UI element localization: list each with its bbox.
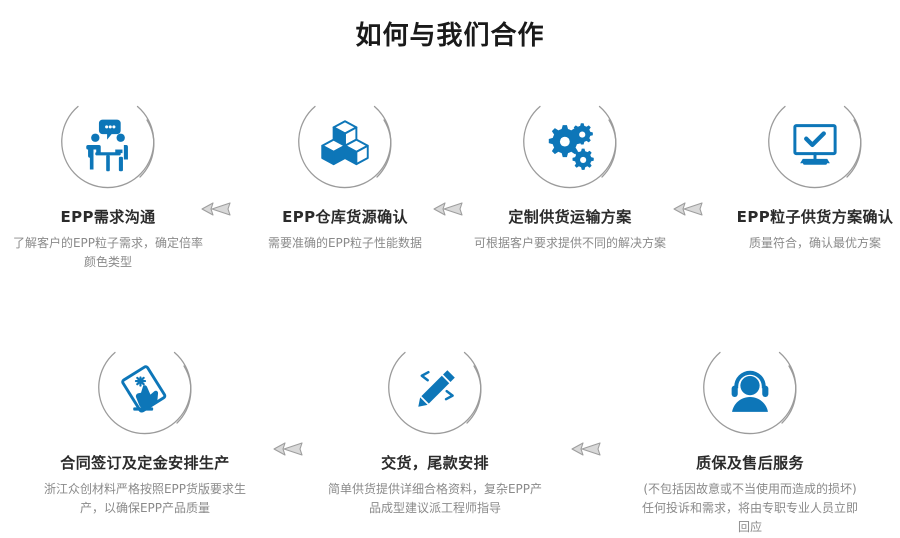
contract-signing-hand-icon [116, 362, 174, 420]
step-5-description: 浙江众创材料严格按照EPP货版要求生产，以确保EPP产品质量 [34, 480, 256, 518]
step-3-title: 定制供货运输方案 [455, 206, 685, 227]
step-1-title: EPP需求沟通 [0, 206, 223, 227]
flow-step-4[interactable]: EPP粒子供货方案确认 质量符合，确认最优方案 [700, 92, 900, 253]
step-7-icon-wrap [697, 338, 803, 444]
step-4-description: 质量符合，确认最优方案 [715, 234, 900, 253]
flow-step-7[interactable]: 质保及售后服务 (不包括因故意或不当使用而造成的损坏)任何投诉和需求，将由专职专… [635, 338, 865, 537]
step-5-icon-wrap [92, 338, 198, 444]
flow-step-3[interactable]: 定制供货运输方案 可根据客户要求提供不同的解决方案 [455, 92, 685, 253]
step-1-description: 了解客户的EPP粒子需求，确定倍率颜色类型 [8, 234, 208, 272]
monitor-check-icon [786, 116, 844, 174]
stacked-boxes-icon [316, 116, 374, 174]
headset-support-icon [721, 362, 779, 420]
step-3-icon-wrap [517, 92, 623, 198]
next-step-arrow-1 [200, 198, 234, 220]
step-6-icon-wrap [382, 338, 488, 444]
flow-step-2[interactable]: EPP仓库货源确认 需要准确的EPP粒子性能数据 [230, 92, 460, 253]
pencil-edit-icon [406, 362, 464, 420]
step-4-title: EPP粒子供货方案确认 [700, 206, 900, 227]
step-6-title: 交货，尾款安排 [320, 452, 550, 473]
step-2-title: EPP仓库货源确认 [230, 206, 460, 227]
meeting-discussion-icon [79, 116, 137, 174]
flow-step-6[interactable]: 交货，尾款安排 简单供货提供详细合格资料，复杂EPP产品成型建议派工程师指导 [320, 338, 550, 518]
flow-step-1[interactable]: EPP需求沟通 了解客户的EPP粒子需求，确定倍率颜色类型 [0, 92, 223, 272]
next-step-arrow-5 [570, 438, 604, 460]
step-5-title: 合同签订及定金安排生产 [30, 452, 260, 473]
next-step-arrow-4 [272, 438, 306, 460]
step-6-description: 简单供货提供详细合格资料，复杂EPP产品成型建议派工程师指导 [324, 480, 546, 518]
step-4-icon-wrap [762, 92, 868, 198]
step-7-description: (不包括因故意或不当使用而造成的损坏)任何投诉和需求，将由专职专业人员立即回应 [639, 480, 861, 537]
step-3-description: 可根据客户要求提供不同的解决方案 [470, 234, 670, 253]
step-2-description: 需要准确的EPP粒子性能数据 [253, 234, 438, 253]
gears-icon [541, 116, 599, 174]
step-1-icon-wrap [55, 92, 161, 198]
step-7-title: 质保及售后服务 [635, 452, 865, 473]
flow-step-5[interactable]: 合同签订及定金安排生产 浙江众创材料严格按照EPP货版要求生产，以确保EPP产品… [30, 338, 260, 518]
process-flow: EPP需求沟通 了解客户的EPP粒子需求，确定倍率颜色类型 [0, 0, 900, 538]
step-2-icon-wrap [292, 92, 398, 198]
